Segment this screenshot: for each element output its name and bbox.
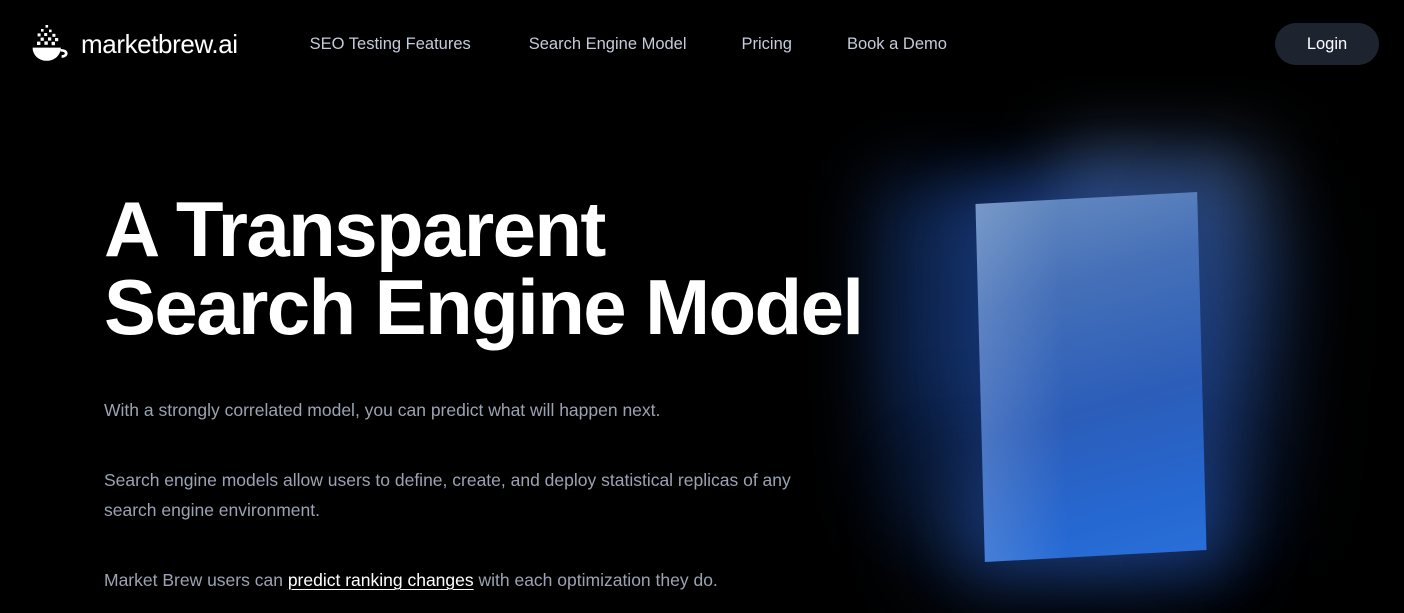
login-button[interactable]: Login [1275,23,1379,65]
tilted-blue-panel [975,192,1206,562]
brand-name: marketbrew.ai [81,31,238,57]
nav-item-pricing[interactable]: Pricing [742,28,792,61]
hero-closing-line: Market Brew users can predict ranking ch… [104,565,904,595]
brand-logo-link[interactable]: marketbrew.ai [28,24,238,64]
landing-page: marketbrew.ai SEO Testing Features Searc… [0,0,1404,613]
closing-prefix: Market Brew users can [104,570,288,590]
hero-artwork [860,120,1330,613]
main-navigation: SEO Testing Features Search Engine Model… [310,28,947,61]
nav-item-seo-testing-features[interactable]: SEO Testing Features [310,28,471,61]
headline-line-2: Search Engine Model [104,268,904,346]
hero-section: A Transparent Search Engine Model With a… [104,190,904,595]
coffee-cup-icon [28,24,70,64]
hero-lede: With a strongly correlated model, you ca… [104,395,904,425]
predict-ranking-changes-link[interactable]: predict ranking changes [288,570,474,590]
headline-line-1: A Transparent [104,190,904,268]
panel-highlight [975,199,1069,562]
closing-suffix: with each optimization they do. [474,570,718,590]
page-title: A Transparent Search Engine Model [104,190,904,346]
nav-item-search-engine-model[interactable]: Search Engine Model [529,28,687,61]
site-header: marketbrew.ai SEO Testing Features Searc… [0,0,1404,88]
nav-item-book-a-demo[interactable]: Book a Demo [847,28,947,61]
hero-paragraph: Search engine models allow users to defi… [104,465,834,525]
